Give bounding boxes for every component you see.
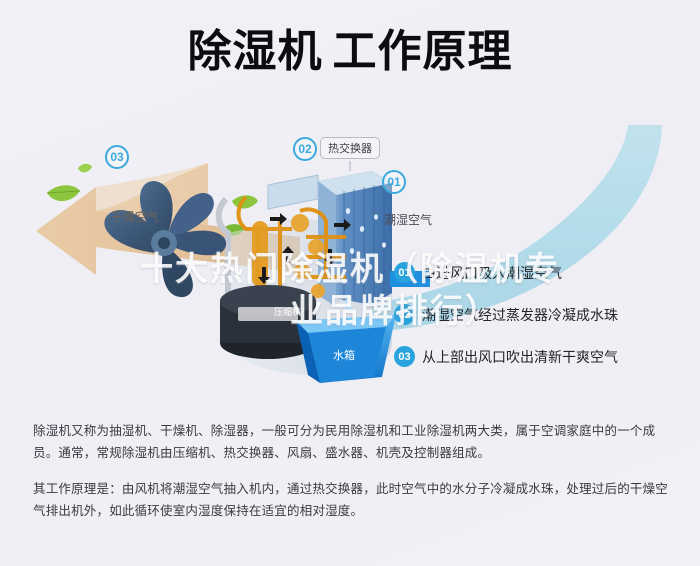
list-item: 03 从上部出风口吹出清新干爽空气 — [394, 342, 694, 371]
title-part-2: 工作原理 — [333, 27, 513, 76]
process-step-list: 01 由进风口吸入潮湿空气 02 潮湿空气经过蒸发器冷凝成水珠 03 从上部出风… — [394, 258, 694, 384]
diagram-badge-03: 03 — [105, 145, 129, 169]
step-text-01: 由进风口吸入潮湿空气 — [422, 263, 562, 283]
list-item: 02 潮湿空气经过蒸发器冷凝成水珠 — [394, 300, 694, 329]
step-number-01: 01 — [394, 262, 415, 283]
diagram-badge-02: 02 — [293, 137, 317, 161]
step-number-03: 03 — [394, 346, 415, 367]
step-number-02: 02 — [394, 304, 415, 325]
label-compressor: 压缩机 — [274, 305, 301, 318]
diagram-badge-01: 01 — [382, 170, 406, 194]
page-title: 除湿机工作原理 — [0, 26, 700, 79]
article-body: 除湿机又称为抽湿机、干燥机、除湿器，一般可分为民用除湿机和工业除湿机两大类，属于… — [33, 420, 673, 522]
step-text-03: 从上部出风口吹出清新干爽空气 — [422, 347, 618, 367]
heat-exchanger-callout: 热交换器 — [320, 137, 380, 159]
label-water-tank: 水箱 — [333, 347, 355, 363]
label-dry-air: 干燥空气 — [111, 208, 159, 225]
body-paragraph-1: 除湿机又称为抽湿机、干燥机、除湿器，一般可分为民用除湿机和工业除湿机两大类，属于… — [33, 420, 673, 464]
list-item: 01 由进风口吸入潮湿空气 — [394, 258, 694, 287]
label-humid-air: 潮湿空气 — [384, 211, 432, 228]
body-paragraph-2: 其工作原理是：由风机将潮湿空气抽入机内，通过热交换器，此时空气中的水分子冷凝成水… — [33, 478, 673, 522]
step-text-02: 潮湿空气经过蒸发器冷凝成水珠 — [422, 305, 618, 325]
title-part-1: 除湿机 — [188, 27, 323, 76]
